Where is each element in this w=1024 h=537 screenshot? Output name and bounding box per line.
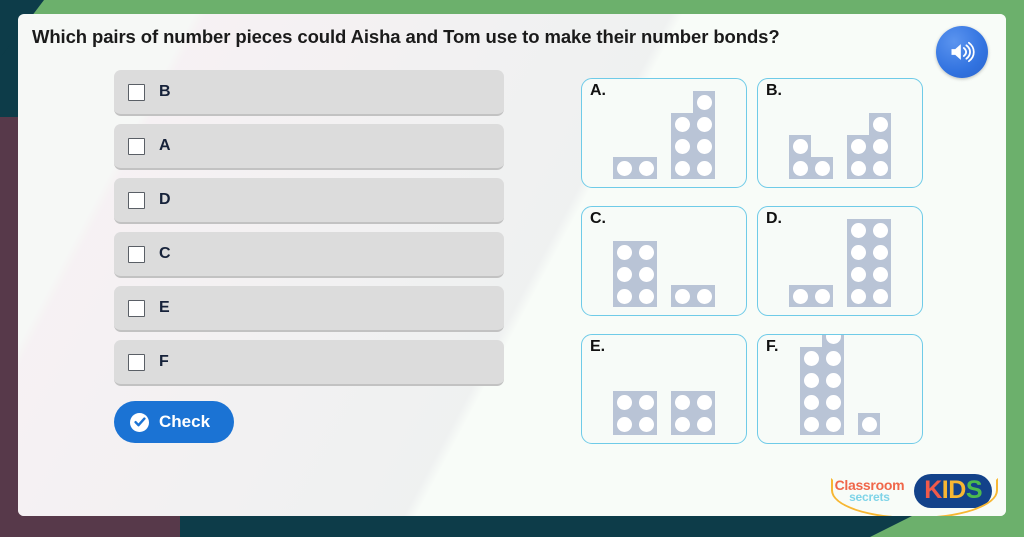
number-piece-card-f[interactable]: F.: [757, 334, 923, 444]
number-piece-5-piece: [847, 113, 891, 179]
piece-dot: [811, 157, 833, 179]
number-piece-2-piece: [613, 157, 657, 179]
page-title: Which pairs of number pieces could Aisha…: [32, 26, 932, 48]
piece-gap: [671, 91, 693, 113]
option-row-c[interactable]: C: [114, 232, 504, 278]
piece-dot: [613, 391, 635, 413]
piece-dot: [869, 219, 891, 241]
piece-dot: [693, 285, 715, 307]
piece-dot: [613, 263, 635, 285]
number-piece-1-piece: [858, 413, 880, 435]
piece-dot: [671, 285, 693, 307]
piece-dot: [869, 241, 891, 263]
number-piece-card-c[interactable]: C.: [581, 206, 747, 316]
piece-dot: [635, 241, 657, 263]
piece-dot: [613, 241, 635, 263]
option-row-d[interactable]: D: [114, 178, 504, 224]
number-piece-3-piece: [789, 135, 833, 179]
piece-gap: [811, 135, 833, 157]
checkbox-icon[interactable]: [128, 84, 145, 101]
option-row-a[interactable]: A: [114, 124, 504, 170]
piece-dot: [869, 135, 891, 157]
piece-dot: [800, 369, 822, 391]
card-letter: C.: [590, 210, 606, 228]
number-piece-4-piece: [613, 391, 657, 435]
piece-gap: [847, 113, 869, 135]
option-label: F: [159, 353, 169, 371]
checkbox-icon[interactable]: [128, 192, 145, 209]
number-piece-card-a[interactable]: A.: [581, 78, 747, 188]
card-pieces: [758, 355, 922, 437]
piece-dot: [847, 219, 869, 241]
card-letter: A.: [590, 82, 606, 100]
number-piece-9-piece: [800, 334, 844, 435]
piece-dot: [869, 285, 891, 307]
option-label: E: [159, 299, 170, 317]
activity-panel: Which pairs of number pieces could Aisha…: [18, 14, 1006, 516]
piece-dot: [693, 157, 715, 179]
piece-dot: [847, 241, 869, 263]
piece-dot: [822, 369, 844, 391]
check-button-label: Check: [159, 412, 210, 432]
piece-dot: [869, 263, 891, 285]
app-background: Which pairs of number pieces could Aisha…: [0, 0, 1024, 537]
piece-dot: [693, 391, 715, 413]
option-row-f[interactable]: F: [114, 340, 504, 386]
answer-options-list: BADCEF: [114, 70, 504, 394]
piece-dot: [635, 391, 657, 413]
card-letter: B.: [766, 82, 782, 100]
piece-dot: [693, 113, 715, 135]
kids-logo-letter-d: D: [948, 478, 966, 503]
option-label: A: [159, 137, 171, 155]
audio-play-button[interactable]: [936, 26, 988, 78]
checkbox-icon[interactable]: [128, 354, 145, 371]
piece-dot: [869, 113, 891, 135]
checkbox-icon[interactable]: [128, 300, 145, 317]
piece-dot: [693, 413, 715, 435]
piece-dot: [613, 285, 635, 307]
classroom-secrets-logo-line2: secrets: [849, 492, 890, 503]
number-piece-4-piece: [671, 391, 715, 435]
check-button[interactable]: Check: [114, 401, 234, 443]
piece-dot: [847, 135, 869, 157]
piece-dot: [822, 413, 844, 435]
option-label: C: [159, 245, 171, 263]
piece-dot: [800, 347, 822, 369]
classroom-secrets-logo-line1: Classroom: [835, 479, 905, 492]
footer-logos: Classroom secrets K I D S: [835, 474, 992, 508]
number-piece-2-piece: [789, 285, 833, 307]
piece-dot: [869, 157, 891, 179]
number-piece-7-piece: [671, 91, 715, 179]
card-pieces: [582, 99, 746, 181]
piece-dot: [693, 135, 715, 157]
piece-dot: [613, 157, 635, 179]
piece-dot: [635, 413, 657, 435]
number-piece-card-d[interactable]: D.: [757, 206, 923, 316]
option-row-b[interactable]: B: [114, 70, 504, 116]
piece-dot: [613, 413, 635, 435]
card-letter: D.: [766, 210, 782, 228]
number-piece-card-e[interactable]: E.: [581, 334, 747, 444]
piece-dot: [811, 285, 833, 307]
checkbox-icon[interactable]: [128, 138, 145, 155]
piece-dot: [671, 157, 693, 179]
piece-dot: [847, 285, 869, 307]
number-piece-2-piece: [671, 285, 715, 307]
number-piece-8-piece: [847, 219, 891, 307]
piece-gap: [800, 334, 822, 347]
piece-dot: [800, 413, 822, 435]
piece-dot: [822, 334, 844, 347]
piece-dot: [858, 413, 880, 435]
card-letter: E.: [590, 338, 605, 356]
piece-dot: [822, 391, 844, 413]
piece-dot: [789, 157, 811, 179]
piece-dot: [671, 113, 693, 135]
piece-dot: [635, 157, 657, 179]
piece-dot: [693, 91, 715, 113]
number-piece-6-piece: [613, 241, 657, 307]
card-pieces: [582, 227, 746, 309]
piece-dot: [847, 263, 869, 285]
card-letter: F.: [766, 338, 778, 356]
piece-dot: [847, 157, 869, 179]
checkbox-icon[interactable]: [128, 246, 145, 263]
speaker-icon: [948, 38, 976, 66]
kids-logo-letter-k: K: [924, 478, 942, 503]
option-row-e[interactable]: E: [114, 286, 504, 332]
number-piece-card-b[interactable]: B.: [757, 78, 923, 188]
classroom-secrets-logo: Classroom secrets: [835, 479, 905, 504]
piece-dot: [635, 285, 657, 307]
card-pieces: [758, 99, 922, 181]
piece-dot: [671, 413, 693, 435]
piece-dot: [635, 263, 657, 285]
option-label: B: [159, 83, 171, 101]
piece-dot: [671, 391, 693, 413]
option-label: D: [159, 191, 171, 209]
check-circle-icon: [130, 413, 149, 432]
piece-dot: [671, 135, 693, 157]
card-pieces: [582, 355, 746, 437]
piece-dot: [789, 285, 811, 307]
number-piece-cards-grid: A.B.C.D.E.F.: [581, 78, 941, 444]
card-pieces: [758, 227, 922, 309]
kids-logo-letter-s: S: [966, 478, 982, 503]
piece-dot: [822, 347, 844, 369]
piece-dot: [789, 135, 811, 157]
kids-logo: K I D S: [914, 474, 992, 508]
piece-dot: [800, 391, 822, 413]
